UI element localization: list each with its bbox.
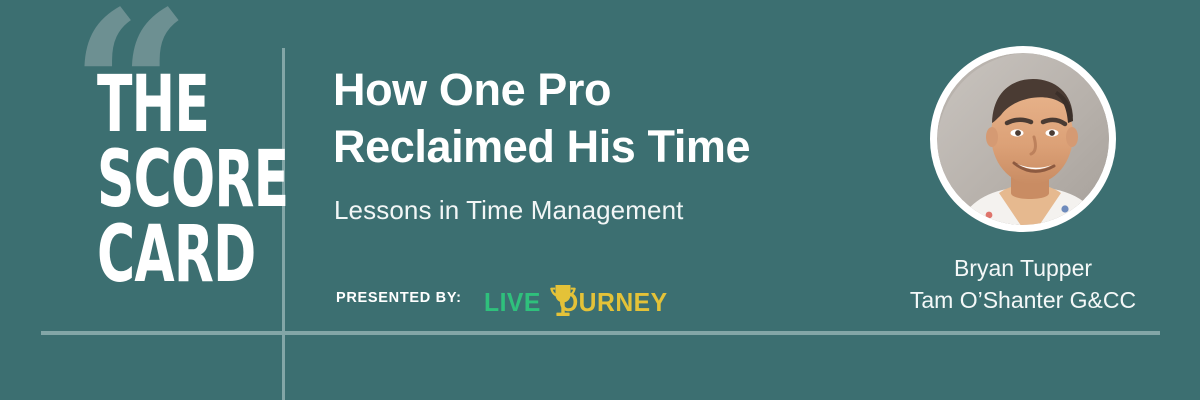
livejourney-logo-live: LIVE xyxy=(484,289,541,315)
headline-line-1: How One Pro xyxy=(333,62,913,119)
headline-line-2: Reclaimed His Time xyxy=(333,119,913,176)
avatar-portrait-illustration xyxy=(937,53,1109,225)
brand-wordmark: THE SCORE CARD xyxy=(97,68,238,293)
wordmark-line-3: CARD xyxy=(97,218,238,293)
speaker-affiliation: Tam O’Shanter G&CC xyxy=(866,285,1180,317)
page-subtitle: Lessons in Time Management xyxy=(334,195,683,226)
speaker-name: Bryan Tupper xyxy=(866,253,1180,285)
wordmark-line-2: SCORE xyxy=(97,143,238,218)
speaker-credit: Bryan Tupper Tam O’Shanter G&CC xyxy=(866,253,1180,316)
presented-by-row: PRESENTED BY: LIVE OURNEY xyxy=(336,281,674,315)
scorecard-banner: “ THE SCORE CARD How One Pro Reclaimed H… xyxy=(0,0,1200,400)
livejourney-logo[interactable]: LIVE OURNEY xyxy=(484,281,674,315)
trophy-icon xyxy=(548,283,578,317)
horizontal-divider xyxy=(41,331,1160,335)
wordmark-line-1: THE xyxy=(97,68,238,143)
presented-by-label: PRESENTED BY: xyxy=(336,290,462,306)
page-title: How One Pro Reclaimed His Time xyxy=(333,62,913,175)
avatar xyxy=(930,46,1116,232)
avatar-photo xyxy=(937,53,1109,225)
